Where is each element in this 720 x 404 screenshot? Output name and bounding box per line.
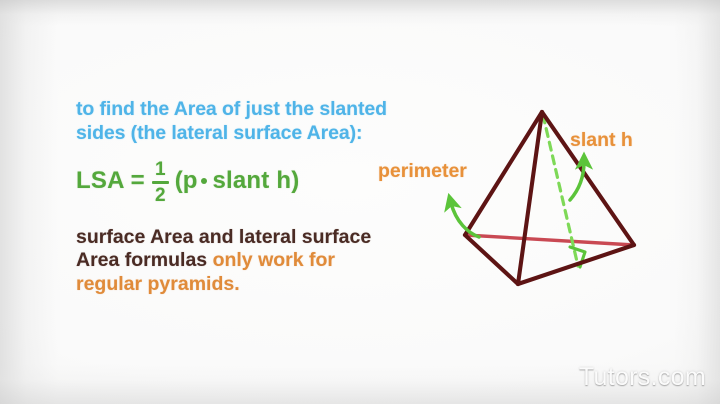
- restriction-note: surface Area and lateral surface Area fo…: [76, 226, 426, 297]
- intro-line-1: to find the Area of just the slanted: [76, 98, 426, 122]
- label-perimeter: perimeter: [378, 160, 467, 183]
- fraction-denominator: 2: [155, 185, 166, 205]
- intro-line-2: sides (the lateral surface Area):: [76, 122, 426, 146]
- lsa-formula: LSA = 1 2 (p slant h): [76, 159, 426, 204]
- background-top-shade: [0, 0, 720, 26]
- fraction-bar: [152, 181, 169, 184]
- formula-right-side: slant h): [212, 167, 299, 195]
- explanation-text-column: to find the Area of just the slanted sid…: [76, 98, 426, 296]
- note-segment-3: only work for: [213, 249, 335, 271]
- note-segment-2: Area formulas: [76, 249, 213, 271]
- lesson-slide: to find the Area of just the slanted sid…: [0, 0, 720, 404]
- watermark-tutors-com: Tutors.com: [579, 363, 706, 392]
- fraction-numerator: 1: [155, 160, 166, 180]
- label-slant-h: slant h: [570, 129, 633, 152]
- fraction-one-half: 1 2: [152, 160, 169, 205]
- intro-statement: to find the Area of just the slanted sid…: [76, 98, 426, 145]
- note-segment-1: surface Area and lateral surface: [76, 226, 371, 248]
- background-right-shade: [674, 0, 720, 404]
- multiplication-dot-icon: [201, 178, 207, 184]
- background-left-shade: [0, 0, 58, 404]
- note-segment-4: regular pyramids.: [76, 273, 240, 295]
- formula-left-side: LSA =: [76, 167, 145, 195]
- formula-open-paren-p: (p: [175, 167, 198, 195]
